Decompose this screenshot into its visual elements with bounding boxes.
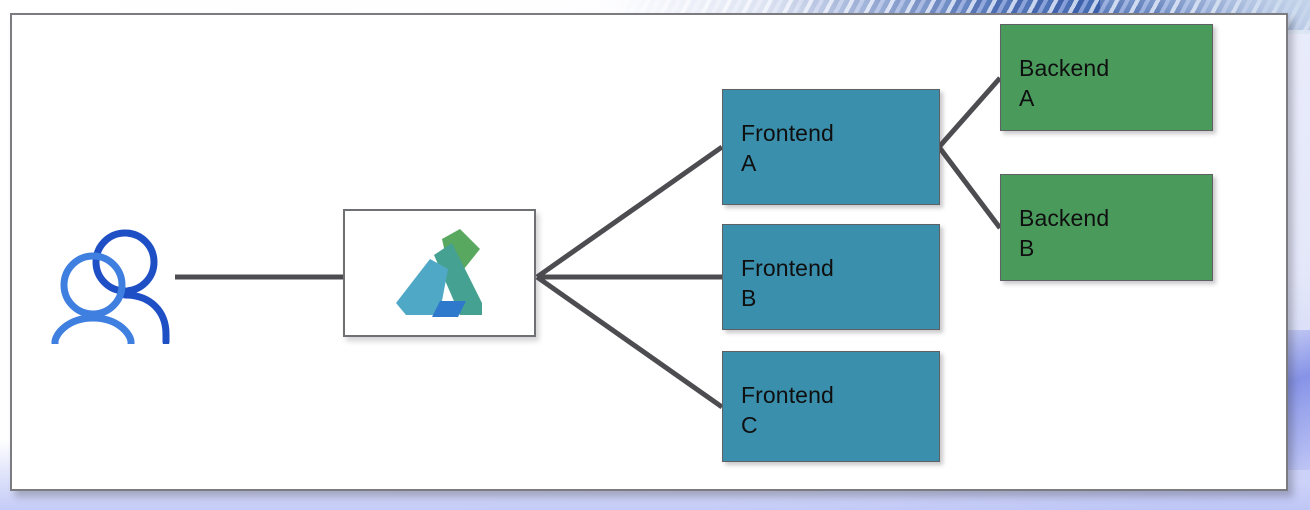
node-frontend-a-label: Frontend A: [741, 118, 939, 178]
node-frontend-c-label: Frontend C: [741, 380, 939, 440]
users-icon: [50, 216, 180, 344]
node-frontend-b[interactable]: Frontend B: [722, 224, 940, 330]
node-backend-a[interactable]: Backend A: [1000, 24, 1213, 131]
slide-canvas: Frontend A Frontend B Frontend C Backend…: [0, 0, 1310, 510]
node-frontend-a[interactable]: Frontend A: [722, 89, 940, 205]
node-frontend-c[interactable]: Frontend C: [722, 351, 940, 462]
azure-application-gateway-icon: [384, 225, 496, 321]
application-gateway-node[interactable]: [343, 209, 536, 337]
node-frontend-b-label: Frontend B: [741, 253, 939, 313]
node-backend-b-label: Backend B: [1019, 203, 1212, 263]
node-backend-b[interactable]: Backend B: [1000, 174, 1213, 281]
user-front-body: [55, 318, 93, 344]
node-backend-a-label: Backend A: [1019, 53, 1212, 113]
user-front-body-right: [93, 318, 131, 344]
